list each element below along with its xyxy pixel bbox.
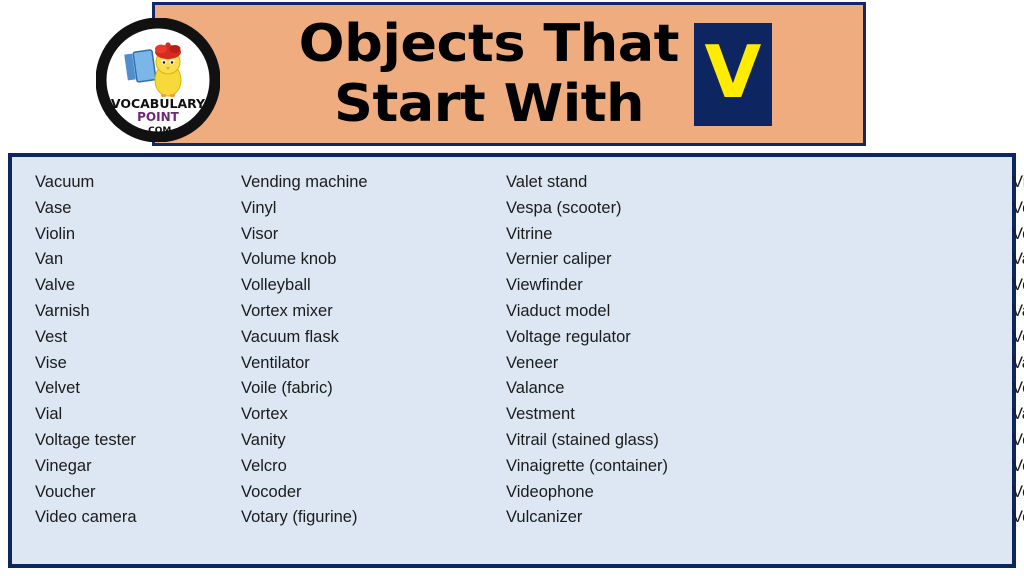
- mascot-icon: [155, 42, 181, 97]
- book-icon: [124, 50, 156, 82]
- page-title-line-1: Objects That: [299, 18, 679, 70]
- header-banner: Objects That Start With V: [152, 2, 866, 146]
- word-list-panel: VacuumVaseViolinVanValveVarnishVestViseV…: [8, 153, 1016, 568]
- letter-badge-text: V: [704, 36, 761, 108]
- logo-brand-line-3: .COM: [145, 126, 172, 136]
- logo-brand-line-2: POINT: [137, 110, 180, 124]
- word-columns: VacuumVaseViolinVanValveVarnishVestViseV…: [12, 157, 1012, 564]
- page-title: Objects That Start With: [306, 18, 672, 130]
- letter-badge: V: [694, 23, 772, 126]
- logo-svg: VOCABULARY POINT .COM: [96, 18, 220, 142]
- header-title-block: Objects That Start With V: [306, 18, 772, 130]
- word-column-4: ViolaVoicemail machineVoltage dividerVar…: [266, 157, 1012, 564]
- page-title-line-2: Start With: [334, 78, 644, 130]
- logo-brand-line-1: VOCABULARY: [111, 96, 206, 111]
- vocabulary-point-logo: VOCABULARY POINT .COM: [96, 18, 220, 142]
